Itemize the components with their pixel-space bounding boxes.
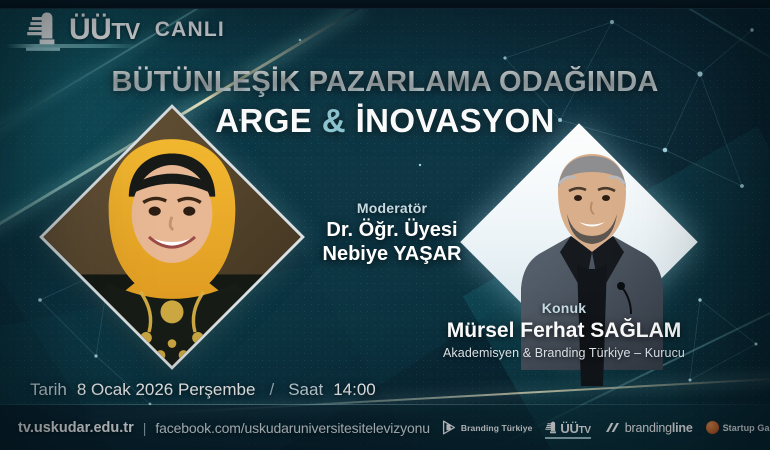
live-badge: CANLI bbox=[155, 18, 225, 42]
moderator-fullname: Nebiye YAŞAR bbox=[323, 243, 462, 265]
program-title-line1: BÜTÜNLEŞİK PAZARLAMA ODAĞINDA bbox=[0, 68, 770, 97]
sponsor-uutv-underline bbox=[545, 437, 590, 439]
channel-logo-tv: TV bbox=[111, 18, 139, 44]
moderator-photo bbox=[39, 104, 305, 370]
broadcast-promo-graphic: ÜÜTV CANLI BÜTÜNLEŞİK PAZARLAMA ODAĞINDA… bbox=[0, 0, 770, 450]
moderator-info: Moderatör Dr. Öğr. Üyesi Nebiye YAŞAR bbox=[276, 200, 508, 266]
time-label: Saat bbox=[288, 380, 323, 400]
moderator-portrait-illustration bbox=[39, 104, 305, 370]
moderator-title: Dr. Öğr. Üyesi bbox=[326, 219, 457, 241]
facebook-link[interactable]: facebook.com/uskudaruniversitesitelevizy… bbox=[155, 420, 429, 436]
program-title-ampersand: & bbox=[322, 102, 346, 139]
sponsor-branding-line-a: branding bbox=[625, 421, 672, 435]
branding-line-slash-icon bbox=[604, 422, 621, 433]
date-value: 8 Ocak 2026 Perşembe bbox=[77, 380, 256, 400]
guest-name: Mürsel Ferhat SAĞLAM bbox=[404, 319, 724, 344]
sponsor-branding-line-label: brandingline bbox=[625, 421, 693, 435]
branding-turkiye-play-icon bbox=[442, 420, 457, 435]
footer-links: tv.uskudar.edu.tr | facebook.com/uskudar… bbox=[18, 420, 430, 436]
guest-role-label: Konuk bbox=[404, 300, 724, 316]
program-title-line2: ARGE & İNOVASYON bbox=[0, 104, 770, 137]
sponsor-startup-gazetesi[interactable]: Startup Gazetesi bbox=[706, 421, 770, 434]
sponsor-branding-line-b: line bbox=[672, 421, 693, 435]
sponsor-uutv-label: ÜÜTV bbox=[560, 422, 590, 436]
sponsor-startup-gazetesi-label: Startup Gazetesi bbox=[723, 423, 770, 433]
footer-bar: tv.uskudar.edu.tr | facebook.com/uskudar… bbox=[0, 405, 770, 450]
date-label: Tarih bbox=[30, 380, 67, 400]
website-link[interactable]: tv.uskudar.edu.tr bbox=[18, 420, 134, 436]
moderator-name: Dr. Öğr. Üyesi Nebiye YAŞAR bbox=[276, 219, 508, 266]
moderator-role-label: Moderatör bbox=[276, 200, 508, 216]
startup-gazetesi-dot-icon bbox=[706, 421, 719, 434]
sponsor-branding-line[interactable]: brandingline bbox=[604, 421, 693, 435]
footer-link-divider: | bbox=[143, 420, 147, 436]
program-title: BÜTÜNLEŞİK PAZARLAMA ODAĞINDA ARGE & İNO… bbox=[0, 68, 770, 137]
sponsor-branding-turkiye[interactable]: Branding Türkiye bbox=[442, 420, 533, 435]
sponsor-uutv-uu: ÜÜ bbox=[560, 421, 578, 436]
channel-logo-uu: ÜÜ bbox=[69, 13, 111, 46]
program-title-arge: ARGE bbox=[215, 102, 312, 139]
sponsor-logos: Branding Türkiye ÜÜTV bbox=[442, 420, 770, 436]
program-title-line1-text: BÜTÜNLEŞİK PAZARLAMA ODAĞINDA bbox=[111, 66, 658, 98]
channel-logo-text: ÜÜTV bbox=[69, 15, 140, 45]
guest-affiliation: Akademisyen & Branding Türkiye – Kurucu bbox=[404, 346, 724, 360]
uutv-tower-icon bbox=[545, 420, 558, 436]
sponsor-uutv[interactable]: ÜÜTV bbox=[545, 420, 590, 436]
program-title-inovasyon: İNOVASYON bbox=[356, 102, 555, 139]
sponsor-uutv-tv: TV bbox=[579, 425, 591, 436]
logo-underline bbox=[6, 44, 138, 48]
schedule-separator: / bbox=[265, 380, 278, 400]
sponsor-branding-turkiye-label: Branding Türkiye bbox=[461, 423, 533, 433]
guest-info: Konuk Mürsel Ferhat SAĞLAM Akademisyen &… bbox=[404, 300, 724, 360]
time-value: 14:00 bbox=[333, 380, 376, 400]
schedule-row: Tarih 8 Ocak 2026 Perşembe / Saat 14:00 bbox=[30, 380, 376, 400]
